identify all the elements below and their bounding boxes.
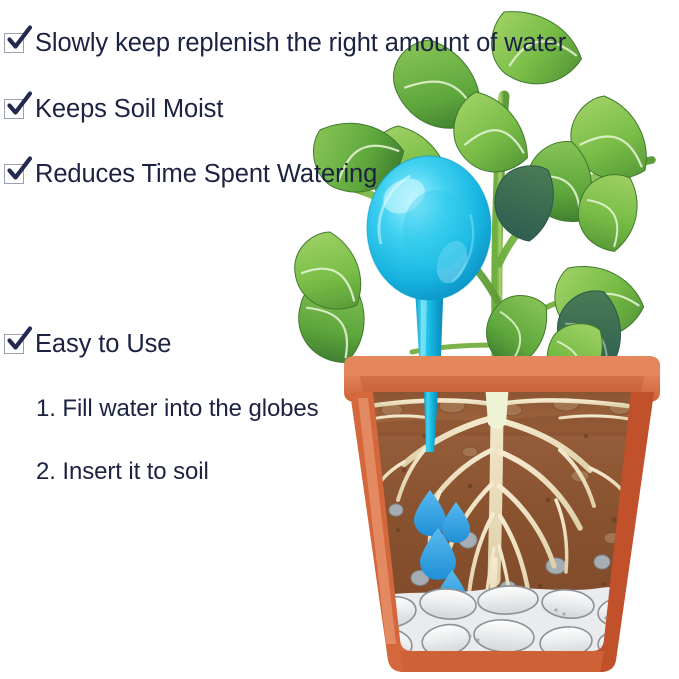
checkbox-checked-icon[interactable] [4, 96, 29, 121]
step-item-2: 2. Insert it to soil [36, 459, 209, 485]
benefit-label-3: Reduces Time Spent Watering [35, 161, 377, 188]
checkbox-checked-icon[interactable] [4, 161, 29, 186]
benefit-item-2: Keeps Soil Moist [4, 96, 223, 123]
benefit-item-4: Easy to Use [4, 331, 171, 358]
step-item-1: 1. Fill water into the globes [36, 396, 319, 422]
benefit-label-4: Easy to Use [35, 331, 171, 358]
product-feature-image: Slowly keep replenish the right amount o… [0, 0, 679, 679]
checkbox-checked-icon[interactable] [4, 331, 29, 356]
benefit-item-1: Slowly keep replenish the right amount o… [4, 30, 566, 57]
checkbox-checked-icon[interactable] [4, 30, 29, 55]
benefit-label-2: Keeps Soil Moist [35, 96, 223, 123]
benefit-label-1: Slowly keep replenish the right amount o… [35, 30, 566, 57]
benefit-item-3: Reduces Time Spent Watering [4, 161, 377, 188]
